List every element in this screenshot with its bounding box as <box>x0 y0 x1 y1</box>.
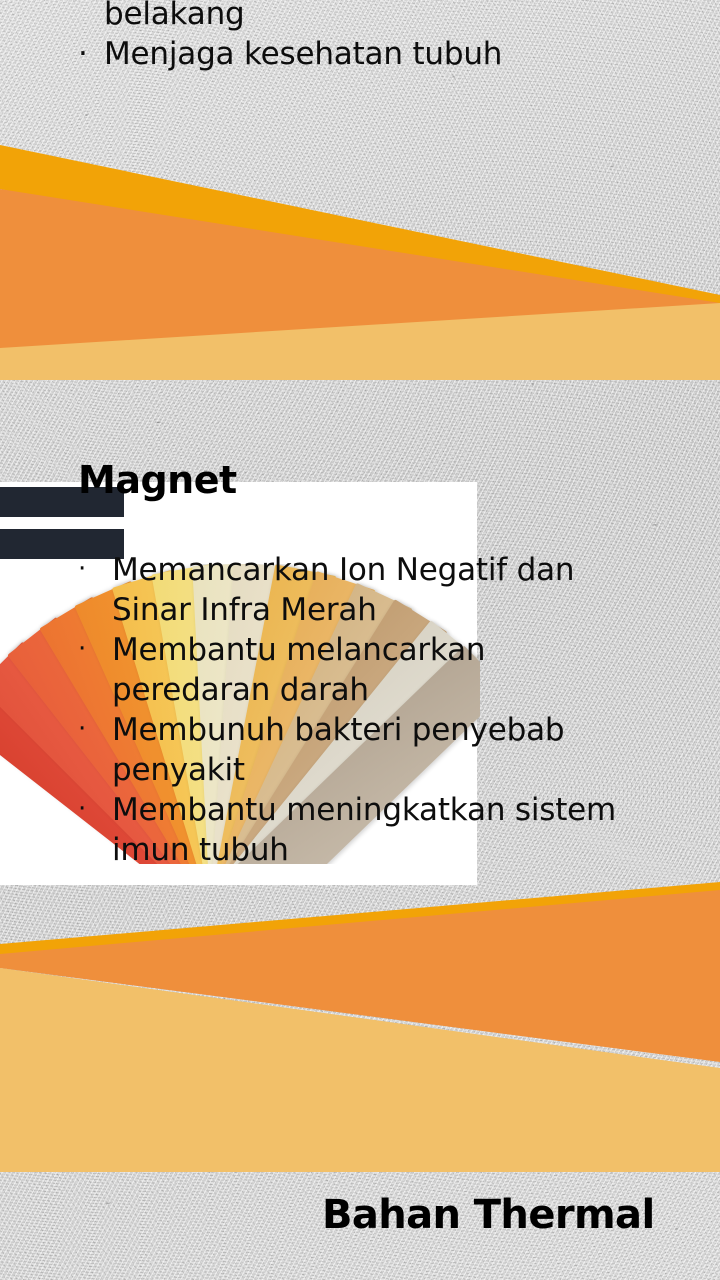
list-item-label: Memancarkan Ion Negatif dan <box>112 552 574 588</box>
list-item-label: Menjaga kesehatan tubuh <box>104 36 502 72</box>
list-item: · Membantu melancarkan <box>72 630 702 670</box>
magnet-bullet-list: · Memancarkan Ion Negatif dan Sinar Infr… <box>72 550 702 870</box>
wedge-top-svg <box>0 145 720 380</box>
list-item-label: Membantu melancarkan <box>112 632 485 668</box>
list-item-label: Membantu meningkatkan sistem <box>112 792 616 828</box>
bullet-dot: · <box>78 34 88 74</box>
list-item-continuation: peredaran darah <box>72 670 702 710</box>
bullet-dot: · <box>78 789 86 829</box>
top-bullet-list: tulang pinggul dan tulang belakang · Men… <box>72 0 692 74</box>
list-item-continuation: imun tubuh <box>72 830 702 870</box>
list-item: belakang <box>72 0 692 34</box>
list-item: · Membunuh bakteri penyebab <box>72 710 702 750</box>
decor-wedge-bottom <box>0 882 720 1172</box>
bullet-dot: · <box>78 629 86 669</box>
list-item-label: belakang <box>104 0 245 32</box>
wedge-bottom-svg <box>0 882 720 1172</box>
list-item: · Membantu meningkatkan sistem <box>72 790 702 830</box>
list-item-continuation: Sinar Infra Merah <box>72 590 702 630</box>
decor-wedge-top <box>0 145 720 380</box>
bullet-dot: · <box>78 549 86 589</box>
slide-canvas: tulang pinggul dan tulang belakang · Men… <box>0 0 720 1280</box>
bullet-dot: · <box>78 709 86 749</box>
list-item-label: Membunuh bakteri penyebab <box>112 712 564 748</box>
bottom-heading: Bahan Thermal <box>322 1192 655 1238</box>
magnet-heading: Magnet <box>78 458 237 502</box>
list-item: · Menjaga kesehatan tubuh <box>72 34 692 74</box>
list-item-continuation: penyakit <box>72 750 702 790</box>
list-item: · Memancarkan Ion Negatif dan <box>72 550 702 590</box>
